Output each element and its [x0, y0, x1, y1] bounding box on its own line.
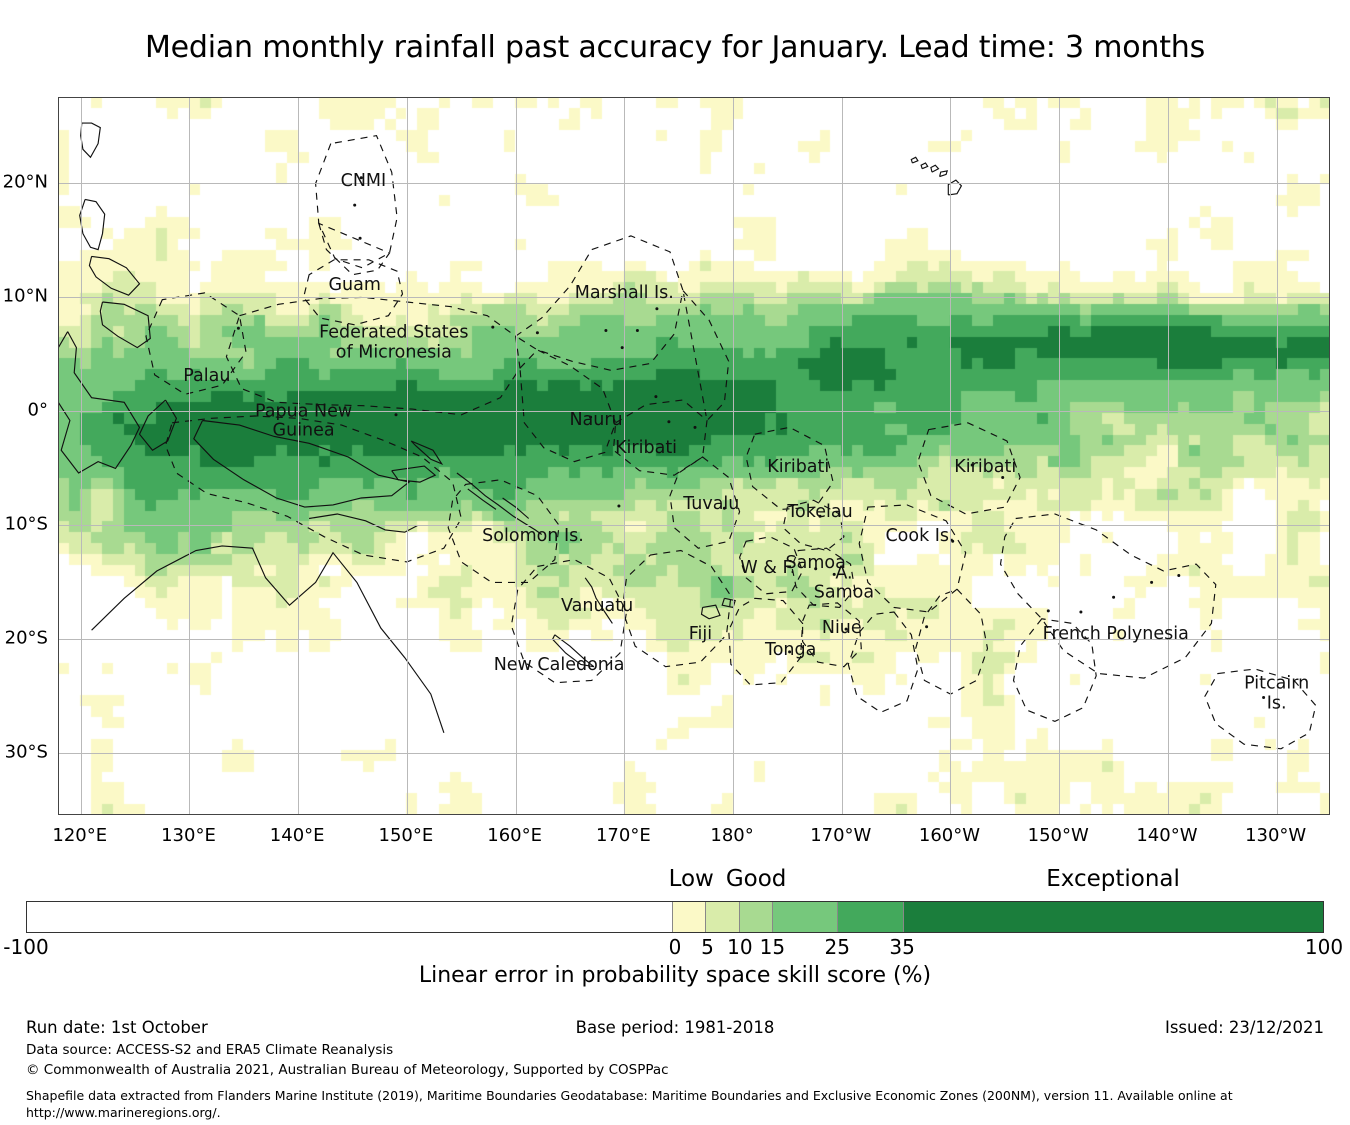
gridline-vertical	[1059, 98, 1060, 814]
colorbar-axis-label: Linear error in probability space skill …	[0, 963, 1350, 988]
eez-boundary	[916, 589, 988, 694]
island-marker	[536, 331, 539, 334]
colorbar-segment	[673, 902, 706, 932]
gridline-vertical	[516, 98, 517, 814]
colorbar-tick-label: 25	[825, 935, 850, 959]
island-marker	[353, 204, 356, 207]
eez-boundary	[511, 560, 626, 683]
latitude-tick-label: 10°N	[0, 286, 48, 307]
data-source: Data source: ACCESS-S2 and ERA5 Climate …	[26, 1042, 393, 1058]
longitude-tick-label: 130°E	[161, 825, 216, 846]
colorbar-tick-label: 5	[701, 935, 714, 959]
coastline	[194, 421, 409, 508]
coastline	[702, 605, 721, 619]
colorbar-quality-labels: LowGoodExceptional	[0, 866, 1350, 896]
shapefile-attribution-line2: http://www.marineregions.org/.	[26, 1105, 221, 1120]
gridline-vertical	[298, 98, 299, 814]
eez-boundary	[226, 297, 520, 414]
island-marker	[845, 628, 848, 631]
island-marker	[621, 346, 624, 349]
longitude-tick-label: 120°E	[52, 825, 107, 846]
coastline	[59, 332, 139, 473]
eez-boundary	[516, 236, 683, 371]
island-marker	[395, 413, 398, 416]
colorbar-quality-label-exceptional: Exceptional	[1046, 866, 1180, 892]
coastline	[89, 256, 139, 295]
island-marker	[814, 567, 817, 570]
footer-row-primary: Run date: 1st October Base period: 1981-…	[0, 1018, 1350, 1038]
longitude-tick-label: 160°E	[487, 825, 542, 846]
page-title: Median monthly rainfall past accuracy fo…	[0, 30, 1350, 65]
coastline	[81, 123, 101, 157]
island-marker	[667, 420, 670, 423]
copyright-notice: © Commonwealth of Australia 2021, Austra…	[26, 1062, 669, 1078]
latitude-tick-label: 20°N	[0, 172, 48, 193]
gridline-vertical	[81, 98, 82, 814]
eez-boundary	[792, 548, 855, 607]
colorbar-tick-label: 0	[669, 935, 682, 959]
eez-boundary	[683, 291, 729, 421]
eez-boundary	[448, 480, 559, 583]
gridline-horizontal	[59, 639, 1329, 640]
coastline	[940, 171, 948, 177]
eez-boundary	[319, 223, 390, 274]
island-marker	[654, 395, 657, 398]
eez-boundary	[1014, 619, 1097, 722]
island-marker	[604, 329, 607, 332]
island-marker	[951, 540, 954, 543]
longitude-tick-label: 170°W	[810, 825, 871, 846]
colorbar-segment	[740, 902, 773, 932]
run-date: Run date: 1st October	[26, 1018, 208, 1037]
coastline	[80, 199, 105, 249]
map-overlay-vectors	[59, 98, 1330, 815]
eez-boundary	[740, 537, 803, 594]
gridline-horizontal	[59, 753, 1329, 754]
island-marker	[694, 426, 697, 429]
eez-boundary	[622, 551, 731, 667]
island-marker	[788, 650, 791, 653]
latitude-tick-label: 30°S	[0, 742, 48, 763]
island-marker	[833, 573, 836, 576]
colorbar	[26, 901, 1324, 933]
colorbar-tick-label: 100	[1305, 935, 1343, 959]
map-plot-area: CNMIGuamPalauFederated States of Microne…	[58, 97, 1330, 815]
island-marker	[237, 327, 240, 330]
island-marker	[1150, 581, 1153, 584]
gridline-vertical	[407, 98, 408, 814]
colorbar-tick-label: 35	[889, 935, 914, 959]
longitude-tick-label: 140°E	[270, 825, 325, 846]
coastline	[100, 302, 150, 348]
island-marker	[617, 505, 620, 508]
gridline-horizontal	[59, 183, 1329, 184]
eez-boundary	[803, 603, 862, 667]
eez-boundary	[316, 136, 398, 268]
colorbar-segment	[773, 902, 839, 932]
colorbar-tick-label: 10	[727, 935, 752, 959]
island-marker	[1262, 696, 1265, 699]
coastline	[392, 466, 436, 482]
shapefile-attribution-line1: Shapefile data extracted from Flanders M…	[26, 1088, 1233, 1103]
island-marker	[360, 176, 363, 179]
coastline	[931, 165, 939, 172]
island-marker	[589, 416, 592, 419]
eez-boundary	[746, 427, 833, 509]
longitude-tick-label: 170°E	[596, 825, 651, 846]
longitude-tick-label: 140°W	[1136, 825, 1197, 846]
island-marker	[1177, 574, 1180, 577]
latitude-tick-label: 10°S	[0, 514, 48, 535]
colorbar-segment	[27, 902, 673, 932]
colorbar-quality-label-good: Good	[726, 866, 787, 892]
coastline	[309, 514, 418, 532]
island-marker	[723, 507, 726, 510]
longitude-tick-label: 150°E	[379, 825, 434, 846]
eez-boundary	[729, 598, 803, 685]
gridline-vertical	[189, 98, 190, 814]
gridline-vertical	[1277, 98, 1278, 814]
eez-boundary	[1001, 514, 1216, 678]
longitude-tick-label: 130°W	[1245, 825, 1306, 846]
coastline	[585, 578, 612, 624]
coastline	[911, 157, 918, 163]
island-marker	[1079, 611, 1082, 614]
longitude-tick-label: 150°W	[1028, 825, 1089, 846]
gridline-vertical	[624, 98, 625, 814]
colorbar-tick-label: 15	[760, 935, 785, 959]
eez-boundary	[520, 350, 616, 462]
colorbar-segment	[706, 902, 739, 932]
latitude-tick-label: 20°S	[0, 628, 48, 649]
island-marker	[1047, 609, 1050, 612]
island-marker	[925, 625, 928, 628]
colorbar-segment	[838, 902, 904, 932]
colorbar-tick-label: -100	[3, 935, 48, 959]
gridline-vertical	[1168, 98, 1169, 814]
island-marker	[1001, 476, 1004, 479]
colorbar-quality-label-low: Low	[669, 866, 714, 892]
island-marker	[971, 464, 974, 467]
gridline-horizontal	[59, 525, 1329, 526]
gridline-vertical	[950, 98, 951, 814]
eez-boundary	[670, 457, 740, 548]
gridline-vertical	[842, 98, 843, 814]
eez-boundary	[166, 416, 462, 562]
eez-boundary	[304, 260, 403, 325]
island-marker	[1112, 596, 1115, 599]
colorbar-segment	[904, 902, 1323, 932]
eez-boundary	[1205, 669, 1316, 749]
eez-boundary	[918, 423, 1020, 514]
island-marker	[359, 237, 362, 240]
latitude-tick-label: 0°	[0, 400, 48, 421]
island-marker	[655, 307, 658, 310]
island-marker	[491, 326, 494, 329]
gridline-vertical	[733, 98, 734, 814]
issued-date: Issued: 23/12/2021	[1165, 1018, 1324, 1037]
longitude-tick-label: 180°	[710, 825, 753, 846]
colorbar-ticks: -1000510152535100	[0, 935, 1350, 961]
gridline-horizontal	[59, 411, 1329, 412]
base-period: Base period: 1981-2018	[576, 1018, 775, 1037]
coastline	[921, 163, 928, 169]
longitude-tick-label: 160°W	[919, 825, 980, 846]
eez-boundary	[848, 612, 918, 712]
coastline	[468, 489, 496, 510]
gridline-horizontal	[59, 297, 1329, 298]
island-marker	[819, 515, 822, 518]
island-marker	[636, 329, 639, 332]
